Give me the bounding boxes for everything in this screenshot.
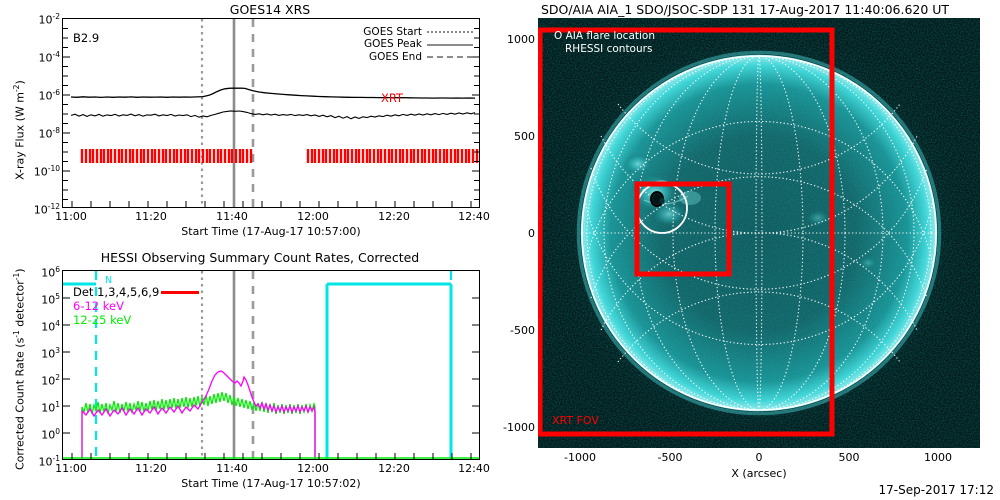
hessi-ytick-5: 1 <box>55 400 60 409</box>
goes-ytick-base-2: 10 <box>39 90 53 103</box>
goes-ytick-3: -8 <box>53 126 60 135</box>
goes-ytick-base-1: 10 <box>39 52 53 65</box>
goes-ytick-4: -10 <box>48 164 60 173</box>
hessi-legend-item-det: Det 1,3,4,5,6,9 <box>73 285 199 299</box>
hessi-xtick-2: 11:40 <box>216 462 248 475</box>
goes-xtick-3: 12:00 <box>297 210 329 223</box>
hessi-xtick-0: 11:00 <box>55 462 87 475</box>
aia-ytick-4: -1000 <box>503 421 535 434</box>
hessi-ytick-2: 4 <box>55 319 60 328</box>
rhessi-contours-annotation: RHESSI contours <box>554 43 655 56</box>
goes-title: GOES14 XRS <box>60 2 480 17</box>
hessi-legend-swatch-det <box>161 291 199 294</box>
aia-annotations: O AIA flare location RHESSI contours <box>554 30 655 56</box>
hessi-y-ticklabels: 106 105 104 103 102 101 100 10-1 <box>20 265 60 457</box>
aia-x-ticklabels: -1000 -500 0 500 1000 <box>538 451 980 467</box>
hessi-xtick-3: 12:00 <box>297 462 329 475</box>
goes-legend: GOES Start GOES Peak GOES End <box>363 26 473 63</box>
aia-image-svg <box>538 18 980 448</box>
hessi-6-12kev-curve <box>82 371 315 459</box>
aia-flare-location-text: AIA flare location <box>566 30 655 42</box>
aia-xtick-2: 0 <box>756 451 763 464</box>
hessi-ytick-1: 5 <box>55 292 60 301</box>
goes-xtick-0: 11:00 <box>55 210 87 223</box>
hessi-ytick-base-3: 10 <box>41 348 55 361</box>
aia-xtick-1: -500 <box>658 451 683 464</box>
hessi-title: HESSI Observing Summary Count Rates, Cor… <box>35 250 485 265</box>
goes-y-ticklabels: 10-2 10-4 10-6 10-8 10-10 10-12 <box>20 12 60 212</box>
goes-legend-swatch-dotted <box>427 31 473 33</box>
aia-ytick-2: 0 <box>528 227 535 240</box>
goes-xtick-5: 12:40 <box>458 210 490 223</box>
aia-panel: SDO/AIA AIA_1 SDO/JSOC-SDP 131 17-Aug-20… <box>490 0 1000 500</box>
hessi-ytick-base-0: 10 <box>41 267 55 280</box>
hessi-x-axis-label: Start Time (17-Aug-17 10:57:02) <box>62 477 480 490</box>
hessi-xtick-4: 12:20 <box>378 462 410 475</box>
goes-ytick-base-3: 10 <box>39 128 53 141</box>
hessi-legend-item-6-12kev: 6-12 keV <box>73 299 199 313</box>
goes-plot-area[interactable]: B2.9 XRT GOES Start GOES Peak GOES End <box>62 18 480 208</box>
aia-x-axis-label: X (arcsec) <box>538 467 980 480</box>
xrt-observation-ticks-block1 <box>82 149 251 163</box>
hessi-ytick-base-7: 10 <box>39 456 53 469</box>
hessi-ytick-base-6: 10 <box>41 429 55 442</box>
figure-timestamp: 17-Sep-2017 17:12 <box>879 483 994 497</box>
goes-x-axis-label: Start Time (17-Aug-17 10:57:00) <box>62 225 480 238</box>
hessi-legend: Det 1,3,4,5,6,9 6-12 keV 12-25 keV <box>73 285 199 327</box>
goes-legend-item-end: GOES End <box>363 51 473 63</box>
aia-flare-marker-glyph: O <box>554 30 562 42</box>
aia-y-ticklabels: 1000 500 0 -500 -1000 <box>490 18 537 440</box>
goes-ytick-base-0: 10 <box>39 14 53 27</box>
aia-xtick-3: 500 <box>839 451 860 464</box>
goes-x-ticklabels: 11:00 11:20 11:40 12:00 12:20 12:40 <box>62 210 480 226</box>
hessi-ytick-base-2: 10 <box>41 321 55 334</box>
goes-xtick-4: 12:20 <box>378 210 410 223</box>
hessi-ytick-base-4: 10 <box>41 375 55 388</box>
goes-ytick-2: -6 <box>53 88 60 97</box>
aia-ytick-3: -500 <box>510 324 535 337</box>
hessi-legend-label-12-25kev: 12-25 keV <box>73 313 131 327</box>
hessi-12-25kev-curve <box>82 392 315 459</box>
hessi-legend-item-12-25kev: 12-25 keV <box>73 313 199 327</box>
hessi-legend-label-det: Det 1,3,4,5,6,9 <box>73 285 159 299</box>
goes-xrt-label: XRT <box>381 91 403 105</box>
goes-legend-swatch-solid <box>427 44 473 46</box>
goes-x-minor-ticks <box>72 201 471 207</box>
hessi-ytick-base-5: 10 <box>41 402 55 415</box>
hessi-ytick-6: 0 <box>55 427 60 436</box>
goes-legend-item-start: GOES Start <box>363 26 473 38</box>
goes-ytick-0: -2 <box>53 12 60 21</box>
hessi-plot-area[interactable]: N Det 1,3,4,5,6,9 6-12 keV 12-25 keV <box>62 270 480 460</box>
aia-ytick-1: 500 <box>514 130 535 143</box>
hessi-ytick-4: 2 <box>55 373 60 382</box>
goes-legend-label-peak: GOES Peak <box>364 38 422 50</box>
goes-legend-item-peak: GOES Peak <box>363 38 473 50</box>
aia-title: SDO/AIA AIA_1 SDO/JSOC-SDP 131 17-Aug-20… <box>490 2 1000 17</box>
xrt-observation-ticks-block2 <box>308 149 477 163</box>
hessi-panel: HESSI Observing Summary Count Rates, Cor… <box>0 240 490 500</box>
aia-xtick-4: 1000 <box>924 451 952 464</box>
xrt-fov-label: XRT FOV <box>552 414 599 427</box>
figure-root: GOES14 XRS X-ray Flux (W m-2) 10-2 10-4 … <box>0 0 1000 500</box>
hessi-x-ticklabels: 11:00 11:20 11:40 12:00 12:20 12:40 <box>62 462 480 478</box>
goes-panel: GOES14 XRS X-ray Flux (W m-2) 10-2 10-4 … <box>0 0 490 240</box>
aia-ytick-0: 1000 <box>507 33 535 46</box>
goes-ytick-base-4: 10 <box>34 166 48 179</box>
hessi-xtick-1: 11:20 <box>135 462 167 475</box>
goes-ytick-1: -4 <box>53 50 60 59</box>
goes-legend-swatch-dashed <box>427 56 473 58</box>
aia-xtick-0: -1000 <box>564 451 596 464</box>
hessi-ytick-base-1: 10 <box>41 294 55 307</box>
goes-xtick-2: 11:40 <box>216 210 248 223</box>
hessi-legend-label-6-12kev: 6-12 keV <box>73 299 124 313</box>
goes-xtick-1: 11:20 <box>135 210 167 223</box>
goes-flare-class-label: B2.9 <box>73 31 99 45</box>
aia-image-area[interactable]: O AIA flare location RHESSI contours XRT… <box>538 18 980 448</box>
goes-short-channel-curve <box>71 111 475 119</box>
hessi-ytick-3: 3 <box>55 346 60 355</box>
hessi-ytick-0: 6 <box>55 265 60 274</box>
aia-flare-location-annotation: O AIA flare location <box>554 30 655 43</box>
goes-long-channel-curve <box>71 88 475 98</box>
hessi-xtick-5: 12:40 <box>458 462 490 475</box>
goes-legend-label-end: GOES End <box>369 51 422 63</box>
goes-legend-label-start: GOES Start <box>363 26 422 38</box>
goes-ytick-base-5: 10 <box>34 204 48 217</box>
